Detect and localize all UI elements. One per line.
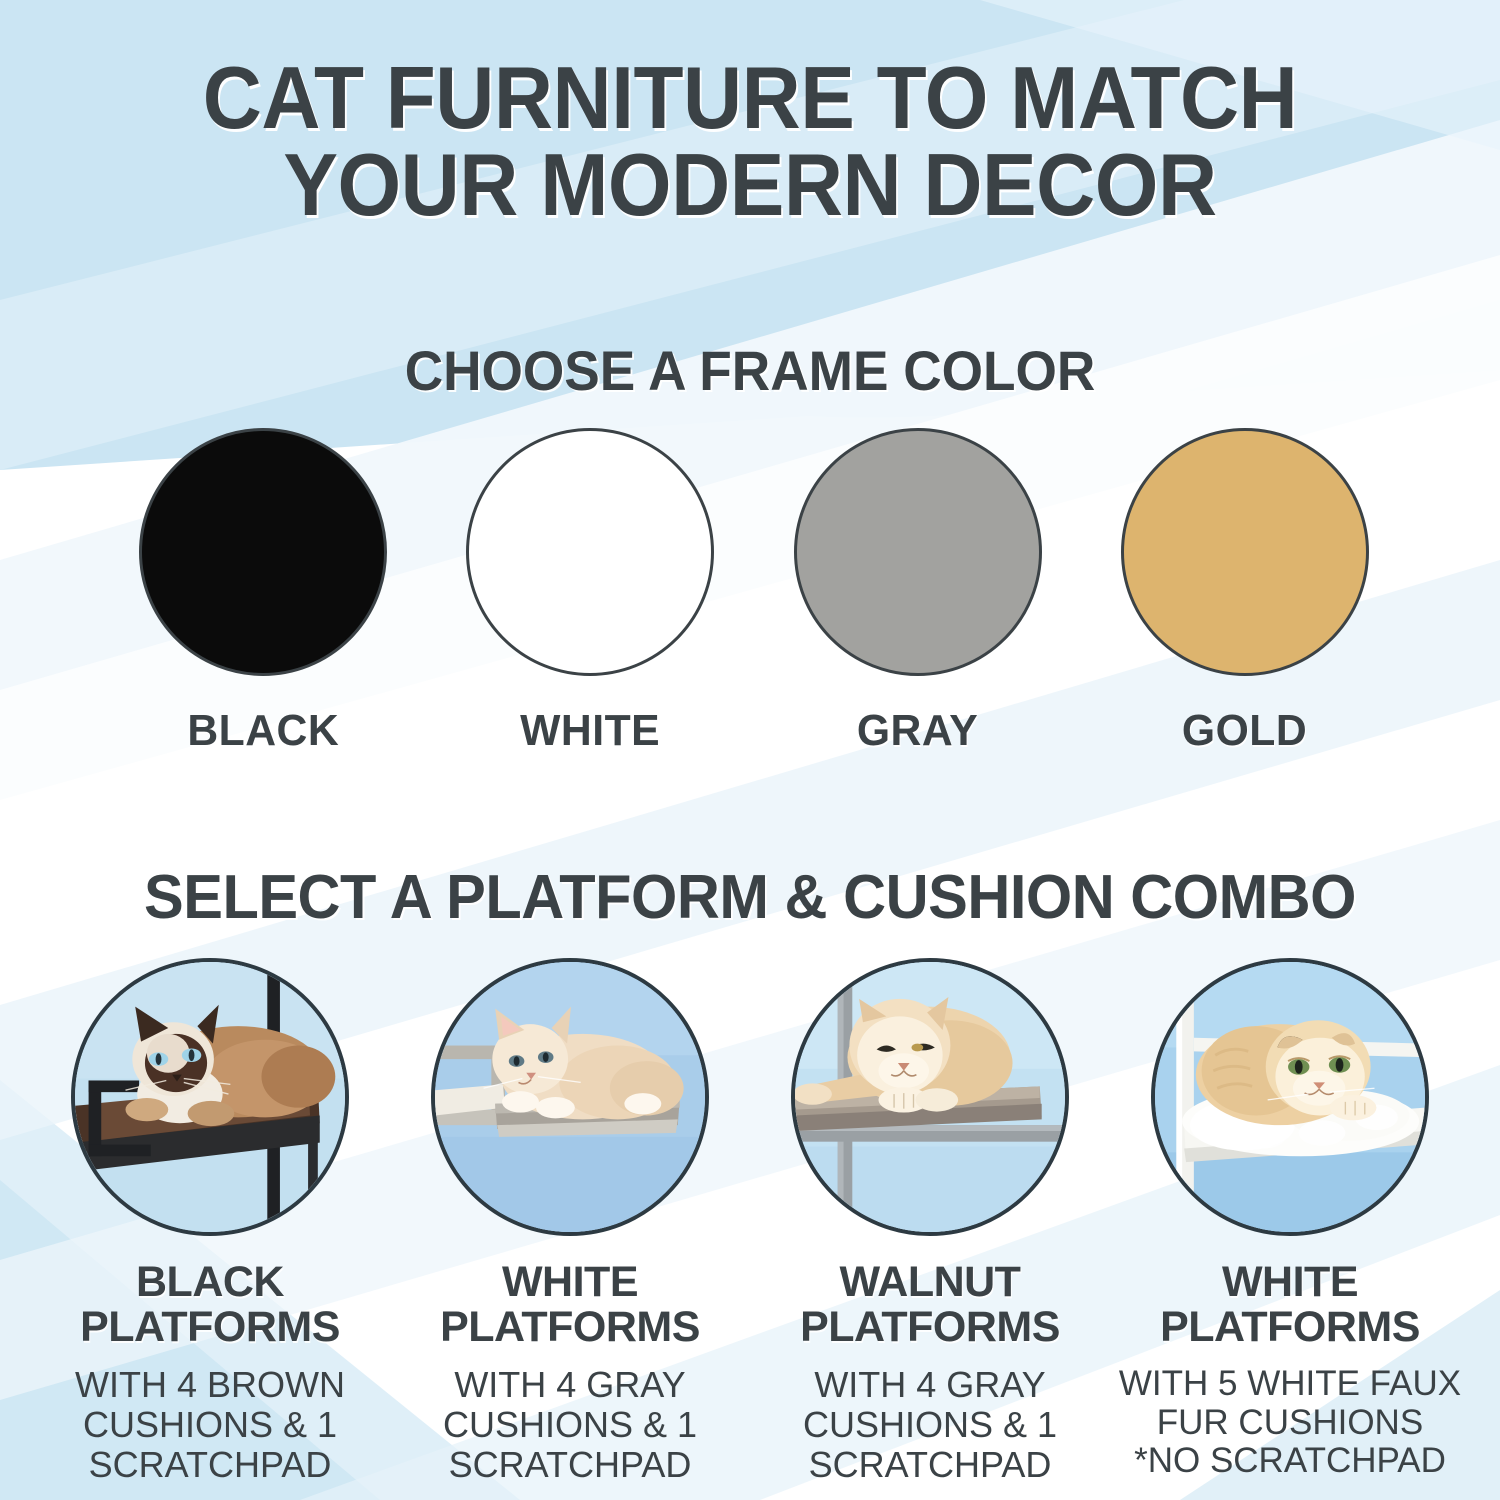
color-swatch-label: BLACK [187, 706, 339, 756]
combo-photo-walnut-platforms[interactable] [791, 958, 1069, 1236]
frame-color-option-white[interactable]: WHITE [445, 428, 735, 756]
combo-title: WALNUT PLATFORMS [800, 1260, 1060, 1349]
siamese-cat-photo [75, 962, 345, 1232]
golden-cat-walnut-photo [795, 962, 1065, 1232]
combo-title: BLACK PLATFORMS [80, 1260, 340, 1349]
color-swatch-gray[interactable] [794, 428, 1042, 676]
platform-cushion-option-row: BLACK PLATFORMS WITH 4 BROWN CUSHIONS & … [34, 958, 1466, 1484]
frame-color-option-gray[interactable]: GRAY [773, 428, 1063, 756]
combo-option-black-platforms[interactable]: BLACK PLATFORMS WITH 4 BROWN CUSHIONS & … [34, 958, 386, 1484]
combo-description: WITH 4 GRAY CUSHIONS & 1 SCRATCHPAD [803, 1365, 1057, 1484]
color-swatch-label: GOLD [1182, 706, 1307, 756]
platform-cushion-heading: SELECT A PLATFORM & CUSHION COMBO [30, 862, 1470, 933]
combo-photo-white-faux-fur[interactable] [1151, 958, 1429, 1236]
frame-color-heading: CHOOSE A FRAME COLOR [38, 338, 1463, 403]
color-swatch-label: WHITE [520, 706, 660, 756]
combo-option-white-faux-fur[interactable]: WHITE PLATFORMS WITH 5 WHITE FAUX FUR CU… [1114, 958, 1466, 1481]
combo-option-white-platforms[interactable]: WHITE PLATFORMS WITH 4 GRAY CUSHIONS & 1… [394, 958, 746, 1484]
combo-photo-black-platforms[interactable] [71, 958, 349, 1236]
combo-description: WITH 4 GRAY CUSHIONS & 1 SCRATCHPAD [443, 1365, 697, 1484]
combo-description: WITH 5 WHITE FAUX FUR CUSHIONS *NO SCRAT… [1119, 1365, 1461, 1481]
combo-photo-white-platforms[interactable] [431, 958, 709, 1236]
combo-title: WHITE PLATFORMS [440, 1260, 700, 1349]
combo-title: WHITE PLATFORMS [1160, 1260, 1420, 1349]
page-title: CAT FURNITURE TO MATCH YOUR MODERN DECOR [53, 54, 1448, 228]
infographic-page: CAT FURNITURE TO MATCH YOUR MODERN DECOR… [0, 0, 1500, 1500]
frame-color-swatch-row: BLACK WHITE GRAY GOLD [118, 428, 1390, 756]
frame-color-option-black[interactable]: BLACK [118, 428, 408, 756]
color-swatch-black[interactable] [139, 428, 387, 676]
combo-option-walnut-platforms[interactable]: WALNUT PLATFORMS WITH 4 GRAY CUSHIONS & … [754, 958, 1106, 1484]
frame-color-option-gold[interactable]: GOLD [1100, 428, 1390, 756]
color-swatch-gold[interactable] [1121, 428, 1369, 676]
scottish-fold-faux-fur-photo [1155, 962, 1425, 1232]
color-swatch-label: GRAY [857, 706, 978, 756]
cream-cat-photo [435, 962, 705, 1232]
color-swatch-white[interactable] [466, 428, 714, 676]
combo-description: WITH 4 BROWN CUSHIONS & 1 SCRATCHPAD [75, 1365, 345, 1484]
